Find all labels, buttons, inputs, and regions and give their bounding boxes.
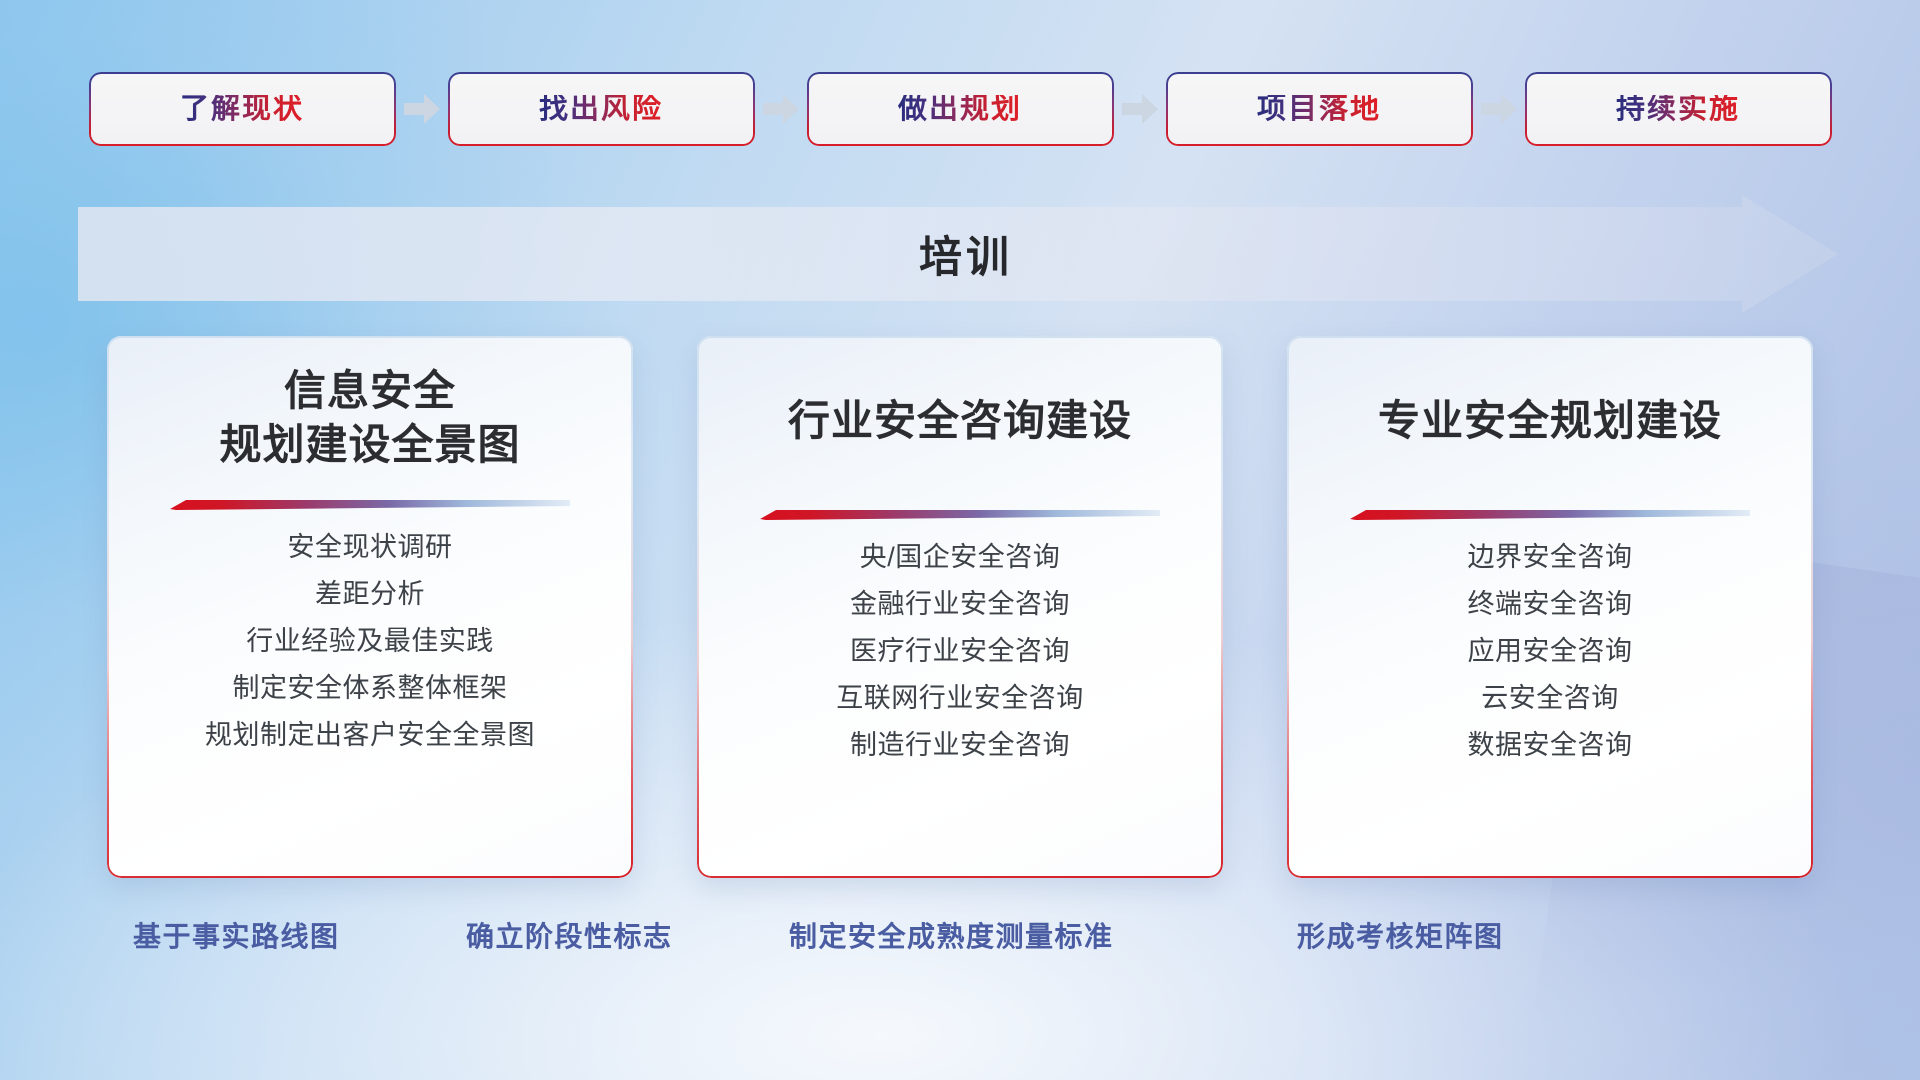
card-title: 专业安全规划建设: [1356, 394, 1744, 448]
card-row: 信息安全 规划建设全景图: [0, 336, 1920, 886]
bottom-label-maturity: 制定安全成熟度测量标准: [789, 910, 1114, 964]
card-industry-security-consulting[interactable]: 行业安全咨询建设: [697, 336, 1223, 878]
step-label: 了解现状: [180, 95, 304, 124]
step-box-2[interactable]: 找出风险: [450, 74, 753, 144]
card-title-line: 行业安全咨询建设: [788, 394, 1132, 448]
card-divider: [760, 508, 1160, 522]
right-arrow-icon: [1471, 74, 1527, 144]
card-divider: [170, 498, 570, 512]
card-wrap-3: 专业安全规划建设: [1287, 336, 1813, 878]
card-list-item[interactable]: 安全现状调研: [288, 534, 453, 561]
card-title: 信息安全 规划建设全景图: [197, 364, 542, 472]
step-box-5[interactable]: 持续实施: [1527, 74, 1830, 144]
step-box-4[interactable]: 项目落地: [1168, 74, 1471, 144]
right-arrow-icon: [394, 74, 450, 144]
card-list-item[interactable]: 规划制定出客户安全全景图: [205, 722, 535, 749]
card-title-line: 专业安全规划建设: [1378, 394, 1722, 448]
card-list-item[interactable]: 应用安全咨询: [1468, 638, 1633, 665]
card-professional-security-planning[interactable]: 专业安全规划建设: [1287, 336, 1813, 878]
card-item-list: 央/国企安全咨询 金融行业安全咨询 医疗行业安全咨询 互联网行业安全咨询 制造行…: [697, 544, 1223, 759]
card-list-item[interactable]: 央/国企安全咨询: [860, 544, 1061, 571]
step-box-3[interactable]: 做出规划: [809, 74, 1112, 144]
banner-title: 培训: [919, 223, 1013, 285]
card-item-list: 边界安全咨询 终端安全咨询 应用安全咨询 云安全咨询 数据安全咨询: [1287, 544, 1813, 759]
card-list-item[interactable]: 边界安全咨询: [1468, 544, 1633, 571]
card-information-security-panorama[interactable]: 信息安全 规划建设全景图: [107, 336, 633, 878]
card-list-item[interactable]: 数据安全咨询: [1468, 732, 1633, 759]
card-list-item[interactable]: 互联网行业安全咨询: [836, 685, 1084, 712]
step-label: 做出规划: [898, 95, 1022, 124]
bottom-label-row: 基于事实路线图 确立阶段性标志 制定安全成熟度测量标准 形成考核矩阵图: [0, 910, 1920, 964]
card-title-line: 信息安全: [219, 364, 520, 418]
process-step-row: 了解现状 找出风险 做出规划 项目落地 持续实施: [0, 70, 1920, 148]
training-banner: 培训: [0, 195, 1920, 313]
step-label: 持续实施: [1616, 95, 1740, 124]
card-list-item[interactable]: 制造行业安全咨询: [850, 732, 1070, 759]
right-arrow-icon: [1112, 74, 1168, 144]
card-list-item[interactable]: 医疗行业安全咨询: [850, 638, 1070, 665]
card-list-item[interactable]: 云安全咨询: [1481, 685, 1619, 712]
card-list-item[interactable]: 制定安全体系整体框架: [233, 675, 508, 702]
card-list-item[interactable]: 金融行业安全咨询: [850, 591, 1070, 618]
bottom-label-matrix: 形成考核矩阵图: [1297, 910, 1504, 964]
card-divider: [1350, 508, 1750, 522]
bottom-label-roadmap: 基于事实路线图: [133, 910, 340, 964]
card-wrap-1: 信息安全 规划建设全景图: [107, 336, 633, 878]
card-title-line: 规划建设全景图: [219, 418, 520, 472]
step-label: 找出风险: [539, 95, 663, 124]
step-label: 项目落地: [1257, 95, 1381, 124]
card-wrap-2: 行业安全咨询建设: [697, 336, 1223, 878]
step-box-1[interactable]: 了解现状: [91, 74, 394, 144]
bottom-label-milestone: 确立阶段性标志: [466, 910, 673, 964]
card-item-list: 安全现状调研 差距分析 行业经验及最佳实践 制定安全体系整体框架 规划制定出客户…: [107, 534, 633, 749]
card-list-item[interactable]: 行业经验及最佳实践: [246, 628, 494, 655]
card-list-item[interactable]: 终端安全咨询: [1468, 591, 1633, 618]
card-list-item[interactable]: 差距分析: [315, 581, 425, 608]
banner-title-wrap: 培训: [0, 195, 1920, 313]
right-arrow-icon: [753, 74, 809, 144]
card-title: 行业安全咨询建设: [766, 394, 1154, 448]
